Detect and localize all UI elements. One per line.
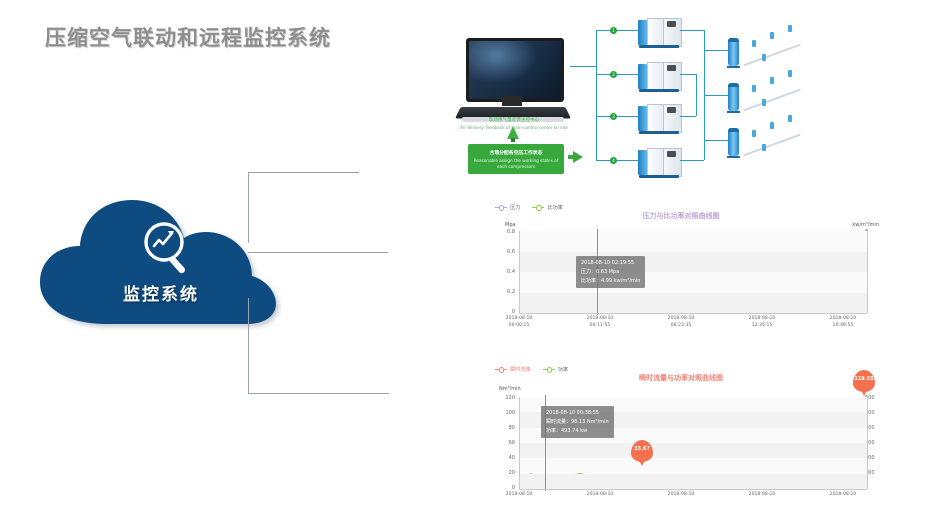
chart2-xtick-4: 2018-08-10 [821, 492, 865, 499]
chart2-tooltip: 2018-08-10 00:38:55 瞬时流量：98.13 Nm³/min 功… [541, 406, 614, 438]
chart2-ytick-l-4: 40 [499, 455, 515, 461]
chart2-marker-high[interactable]: 118.55 [853, 370, 875, 392]
monitor-caption-en: Air delivery feedback of main control ce… [458, 125, 570, 131]
chart1-ytick-l-0: 0.8 [499, 229, 515, 235]
chart1-tooltip-line2: 比功率：4.99 kw/m³/min [581, 277, 640, 286]
wire-left-bus [596, 30, 597, 160]
chart1-ytick-l-4: 0 [499, 309, 515, 315]
wire-to-tank-2 [704, 95, 728, 96]
chart2-legend: 瞬时流量 功率 [495, 366, 568, 373]
chart2-marker-low-label: 33.87 [631, 446, 653, 452]
chart1-xtick-3: 2018-08-1012:35:15 [740, 316, 784, 329]
green-arrow-icon [573, 151, 583, 163]
legend-item-flow[interactable]: 瞬时流量 [495, 366, 531, 373]
chart1-tooltip: 2018-08-10 02:19:55 压力：0.63 Mpa 比功率：4.99… [576, 256, 645, 288]
legend-item-power[interactable]: 功率 [543, 366, 568, 373]
wire-branch-2 [596, 74, 640, 75]
page-title: 压缩空气联动和远程监控系统 [45, 22, 331, 52]
chart1-ytick-l-3: 0.2 [499, 289, 515, 295]
chart1-tooltip-line1: 压力：0.63 Mpa [581, 268, 640, 277]
flow-power-chart[interactable]: 瞬时流量 功率 瞬时流量与功率对照曲线图 Nm³/min 120 100 80 … [481, 362, 881, 512]
wire-to-tank-1 [704, 50, 728, 51]
wire-monitor-to-bus [570, 66, 596, 67]
chart1-plot-area[interactable] [519, 231, 867, 313]
chart2-xtick-3: 2018-08-10 [740, 492, 784, 499]
legend-marker-specific-power [532, 207, 544, 208]
node-badge-3: 3 [610, 113, 617, 120]
green-callout-box: 合理分配各空压工作状态 Reasonable assign the workin… [468, 144, 564, 174]
chart1-xtick-4: 2018-08-1016:46:55 [821, 316, 865, 329]
chart2-ytick-l-0: 120 [499, 395, 515, 401]
wire-branch-3 [596, 116, 640, 117]
chart2-ytick-l-2: 80 [499, 425, 515, 431]
compressor-1 [638, 18, 680, 47]
legend-label-pressure: 压力 [510, 204, 520, 211]
wire-branch-1 [596, 30, 640, 31]
legend-label-flow: 瞬时流量 [510, 366, 531, 373]
chart1-xtick-0: 2018-08-1000:00:15 [497, 316, 541, 329]
connector-line-top [248, 172, 359, 243]
chart1-xtick-2: 2018-08-1008:23:35 [659, 316, 703, 329]
tree-trunk-icon [511, 138, 515, 142]
chart2-yaxis-left [519, 397, 520, 489]
chart1-title: 压力与比功率对照曲线图 [481, 211, 881, 221]
chart1-legend: 压力 比功率 [495, 204, 563, 211]
chart2-xtick-2: 2018-08-10 [659, 492, 703, 499]
wire-branch-4 [596, 160, 640, 161]
compressor-3 [638, 104, 680, 133]
chart1-yaxis-right [867, 231, 868, 313]
compressor-4 [638, 148, 680, 177]
chart2-marker-low[interactable]: 33.87 [631, 440, 653, 462]
node-badge-4: 4 [610, 157, 617, 164]
chart2-ytick-l-1: 100 [499, 410, 515, 416]
chart1-yaxis-unit-left: Mpa [505, 222, 516, 228]
system-topology-diagram: 现场用气量反馈主控中心 Air delivery feedback of mai… [440, 18, 940, 208]
chart2-title: 瞬时流量与功率对照曲线图 [481, 373, 881, 383]
chart1-ytick-l-2: 0.4 [499, 269, 515, 275]
chart2-tooltip-time: 2018-08-10 00:38:55 [546, 409, 609, 418]
wire-out-3 [680, 116, 696, 117]
wire-to-tank-3 [704, 140, 728, 141]
chart2-ytick-l-3: 60 [499, 440, 515, 446]
wire-mid-join [696, 74, 697, 116]
connector-line-middle [248, 252, 388, 254]
chart1-xaxis [519, 313, 867, 314]
connector-line-bottom [248, 298, 389, 394]
chart1-xtick-1: 2018-08-1004:11:55 [578, 316, 622, 329]
pressure-power-chart[interactable]: 压力 比功率 压力与比功率对照曲线图 Mpa kw/m³/min 0.8 0.6… [481, 200, 881, 335]
legend-label-power: 功率 [558, 366, 568, 373]
legend-item-pressure[interactable]: 压力 [495, 204, 520, 211]
chart1-tooltip-time: 2018-08-10 02:19:55 [581, 259, 640, 268]
chart2-tooltip-line2: 功率：493.74 kw [546, 427, 609, 436]
node-badge-2: 2 [610, 71, 617, 78]
green-callout-cn: 合理分配各空压工作状态 [468, 149, 564, 156]
chart1-ytick-l-1: 0.6 [499, 249, 515, 255]
chart1-yaxis-left [519, 231, 520, 313]
chart2-ytick-l-6: 0 [499, 485, 515, 491]
chart2-marker-high-label: 118.55 [853, 376, 875, 382]
chart1-yaxis-unit-right: kw/m³/min [852, 222, 879, 228]
legend-marker-pressure [495, 207, 507, 208]
green-callout-en: Reasonable assign the working states of … [472, 158, 560, 171]
wire-out-1 [680, 30, 704, 31]
legend-marker-power [543, 369, 555, 370]
wire-out-2 [680, 74, 696, 75]
legend-item-specific-power[interactable]: 比功率 [532, 204, 563, 211]
legend-label-specific-power: 比功率 [547, 204, 563, 211]
chart2-tooltip-line1: 瞬时流量：98.13 Nm³/min [546, 418, 609, 427]
chart2-yaxis-unit-left: Nm³/min [499, 386, 521, 392]
chart2-xaxis [519, 489, 867, 490]
chart2-ytick-l-5: 20 [499, 470, 515, 476]
wire-out-4 [680, 160, 704, 161]
magnifier-chart-icon [141, 220, 193, 280]
chart2-xtick-1: 2018-08-10 [578, 492, 622, 499]
chart2-yaxis-right [867, 397, 868, 489]
compressor-2 [638, 62, 680, 91]
chart2-xtick-0: 2018-08-10 [497, 492, 541, 499]
node-badge-1: 1 [610, 27, 617, 34]
monitor-caption-cn: 现场用气量反馈主控中心 [458, 118, 570, 125]
legend-marker-flow [495, 369, 507, 370]
